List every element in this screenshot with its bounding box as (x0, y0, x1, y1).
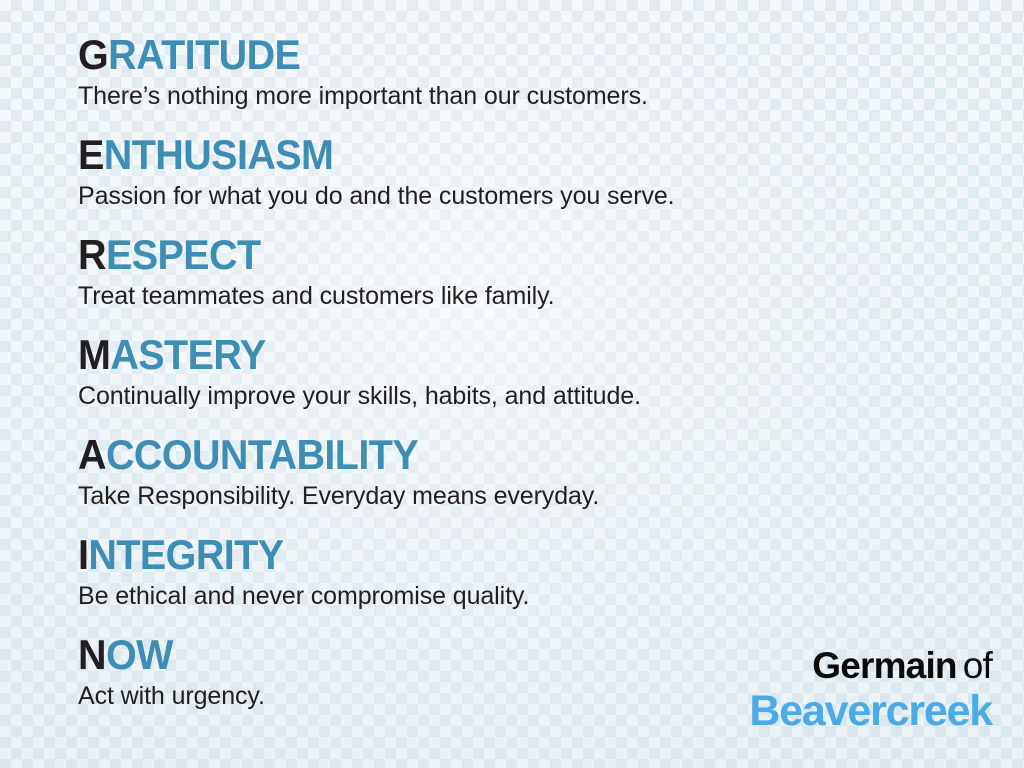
value-heading-remainder: ESPECT (106, 231, 261, 278)
value-description-gratitude: There’s nothing more important than our … (78, 79, 978, 113)
value-entry-enthusiasm: ENTHUSIASM Passion for what you do and t… (78, 133, 978, 233)
value-heading-accountability: ACCOUNTABILITY (78, 433, 924, 477)
value-initial-letter: I (78, 531, 88, 578)
value-initial-letter: M (78, 331, 110, 378)
value-entry-integrity: INTEGRITY Be ethical and never compromis… (78, 533, 978, 633)
value-initial-letter: G (78, 31, 108, 78)
value-initial-letter: A (78, 431, 106, 478)
value-description-mastery: Continually improve your skills, habits,… (78, 379, 978, 413)
brand-logo: Germainof Beavercreek (749, 646, 992, 734)
value-heading-remainder: OW (106, 631, 173, 678)
core-values-list: GRATITUDE There’s nothing more important… (78, 33, 978, 733)
value-heading-remainder: RATITUDE (108, 31, 300, 78)
value-description-respect: Treat teammates and customers like famil… (78, 279, 978, 313)
value-heading-mastery: MASTERY (78, 333, 924, 377)
value-heading-respect: RESPECT (78, 233, 924, 277)
value-initial-letter: R (78, 231, 106, 278)
values-poster: GRATITUDE There’s nothing more important… (0, 0, 1024, 768)
brand-connector: of (963, 645, 992, 686)
value-entry-accountability: ACCOUNTABILITY Take Responsibility. Ever… (78, 433, 978, 533)
value-initial-letter: E (78, 131, 104, 178)
brand-logo-top-line: Germainof (749, 646, 992, 686)
value-description-enthusiasm: Passion for what you do and the customer… (78, 179, 978, 213)
value-heading-integrity: INTEGRITY (78, 533, 924, 577)
value-description-accountability: Take Responsibility. Everyday means ever… (78, 479, 978, 513)
brand-location: Beavercreek (749, 688, 992, 734)
value-entry-respect: RESPECT Treat teammates and customers li… (78, 233, 978, 333)
value-heading-gratitude: GRATITUDE (78, 33, 924, 77)
value-entry-gratitude: GRATITUDE There’s nothing more important… (78, 33, 978, 133)
value-heading-remainder: NTEGRITY (88, 531, 283, 578)
value-heading-enthusiasm: ENTHUSIASM (78, 133, 924, 177)
value-initial-letter: N (78, 631, 106, 678)
value-description-integrity: Be ethical and never compromise quality. (78, 579, 978, 613)
value-heading-remainder: CCOUNTABILITY (106, 431, 418, 478)
value-heading-remainder: ASTERY (110, 331, 265, 378)
value-heading-remainder: NTHUSIASM (104, 131, 334, 178)
brand-name: Germain (812, 645, 957, 686)
value-entry-mastery: MASTERY Continually improve your skills,… (78, 333, 978, 433)
